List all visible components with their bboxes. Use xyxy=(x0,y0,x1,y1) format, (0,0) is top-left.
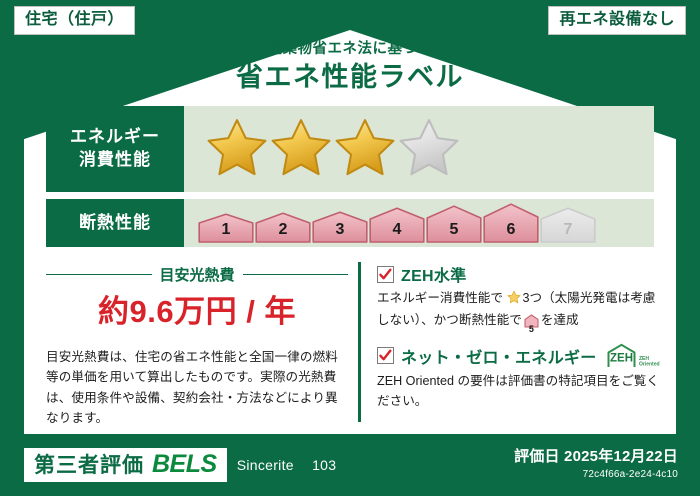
header-subtitle: 建築物省エネ法に基づく xyxy=(0,42,700,58)
bels-jp-text: 第三者評価 xyxy=(34,455,144,476)
insulation-label-text: 断熱性能 xyxy=(79,212,151,235)
insulation-level-number: 6 xyxy=(483,222,539,238)
badge-renewable-energy: 再エネ設備なし xyxy=(548,6,686,35)
net-zero-energy-check: ネット・ゼロ・エネルギー ZEH ZEH Oriented ZEH Orient… xyxy=(377,343,660,412)
insulation-level-number: 5 xyxy=(426,222,482,238)
evaluation-date: 評価日 2025年12月22日 xyxy=(514,448,678,467)
bels-en-text: BELS xyxy=(152,452,217,477)
utility-cost-heading-text: 目安光熱費 xyxy=(160,264,235,285)
performance-rows: エネルギー 消費性能 断熱性能 1234567 xyxy=(46,106,654,254)
energy-label-line1: エネルギー xyxy=(70,126,160,149)
header-title-block: 建築物省エネ法に基づく 省エネ性能ラベル xyxy=(0,42,700,93)
insulation-performance-row: 断熱性能 1234567 xyxy=(46,199,654,247)
utility-cost-section: 目安光熱費 約9.6万円 / 年 目安光熱費は、住宅の省エネ性能と全国一律の燃料… xyxy=(46,262,358,422)
page-title: 省エネ性能ラベル xyxy=(0,63,700,93)
insulation-level-number: 4 xyxy=(369,222,425,238)
insulation-performance-label: 断熱性能 xyxy=(46,199,184,247)
insulation-level-house-achieved: 1 xyxy=(198,213,254,243)
insulation-level-house-achieved: 3 xyxy=(312,211,368,243)
evaluation-info: 評価日 2025年12月22日 72c4f66a-2e24-4c10 xyxy=(514,448,678,481)
zeh-standard-body: エネルギー消費性能で 3つ（太陽光発電は考慮しない）、かつ断熱性能で 5 を達成 xyxy=(377,289,660,335)
star-empty-icon xyxy=(398,116,460,183)
utility-cost-note: 目安光熱費は、住宅の省エネ性能と全国一律の燃料等の単価を用いて算出したものです。… xyxy=(46,347,348,429)
footer-bar: 第三者評価 BELS Sincerite 103 評価日 2025年12月22日… xyxy=(0,434,700,496)
inline-house-level: 5 xyxy=(524,325,539,334)
inline-house-icon: 5 xyxy=(524,314,539,335)
zeh-oriented-logo-icon: ZEH ZEH Oriented xyxy=(606,343,660,369)
insulation-performance-value: 1234567 xyxy=(184,199,654,247)
checkbox-checked-icon xyxy=(377,347,394,364)
insulation-level-number: 3 xyxy=(312,222,368,238)
insulation-level-number: 2 xyxy=(255,222,311,238)
inline-star-icon xyxy=(504,293,522,307)
energy-label-line2: 消費性能 xyxy=(79,149,151,172)
property-info: Sincerite 103 xyxy=(237,457,337,473)
star-rating xyxy=(206,116,460,183)
rule-left xyxy=(46,274,152,275)
badge-building-type: 住宅（住戸） xyxy=(14,6,135,35)
utility-cost-value: 約9.6万円 / 年 xyxy=(46,295,348,329)
property-name: Sincerite xyxy=(237,457,294,473)
evaluation-id: 72c4f66a-2e24-4c10 xyxy=(514,469,678,482)
insulation-level-house-achieved: 6 xyxy=(483,203,539,243)
insulation-level-house-achieved: 4 xyxy=(369,207,425,243)
energy-performance-value xyxy=(184,106,654,192)
insulation-level-house-empty: 7 xyxy=(540,207,596,243)
insulation-level-house-achieved: 5 xyxy=(426,205,482,243)
insulation-level-number: 7 xyxy=(540,222,596,238)
zeh-standard-title: ZEH水準 xyxy=(401,262,467,286)
net-zero-energy-title: ネット・ゼロ・エネルギー xyxy=(401,344,597,368)
energy-performance-label: 住宅（住戸） 再エネ設備なし 建築物省エネ法に基づく 省エネ性能ラベル エネルギ… xyxy=(0,0,700,496)
lower-content: 目安光熱費 約9.6万円 / 年 目安光熱費は、住宅の省エネ性能と全国一律の燃料… xyxy=(46,262,654,422)
unit-number: 103 xyxy=(312,457,336,473)
star-filled-icon xyxy=(334,116,396,183)
svg-text:ZEH: ZEH xyxy=(610,352,633,364)
utility-cost-heading: 目安光熱費 xyxy=(46,264,348,285)
net-zero-energy-body: ZEH Oriented の要件は評価書の特記項目をご覧ください。 xyxy=(377,372,660,412)
star-filled-icon xyxy=(206,116,268,183)
rule-right xyxy=(243,274,349,275)
svg-text:Oriented: Oriented xyxy=(639,361,660,367)
energy-performance-label: エネルギー 消費性能 xyxy=(46,106,184,192)
zeh-checks-section: ZEH水準 エネルギー消費性能で 3つ（太陽光発電は考慮しない）、かつ断熱性能で… xyxy=(358,262,660,422)
zeh-body-part3: を達成 xyxy=(541,313,579,327)
bels-logo: 第三者評価 BELS xyxy=(24,448,227,482)
net-zero-energy-head: ネット・ゼロ・エネルギー ZEH ZEH Oriented xyxy=(377,343,660,369)
energy-performance-row: エネルギー 消費性能 xyxy=(46,106,654,192)
insulation-level-number: 1 xyxy=(198,222,254,238)
insulation-level-scale: 1234567 xyxy=(198,203,596,243)
zeh-body-part1: エネルギー消費性能で xyxy=(377,291,503,305)
checkbox-checked-icon xyxy=(377,266,394,283)
star-filled-icon xyxy=(270,116,332,183)
insulation-level-house-achieved: 2 xyxy=(255,212,311,243)
zeh-standard-check: ZEH水準 エネルギー消費性能で 3つ（太陽光発電は考慮しない）、かつ断熱性能で… xyxy=(377,262,660,335)
zeh-standard-head: ZEH水準 xyxy=(377,262,660,286)
